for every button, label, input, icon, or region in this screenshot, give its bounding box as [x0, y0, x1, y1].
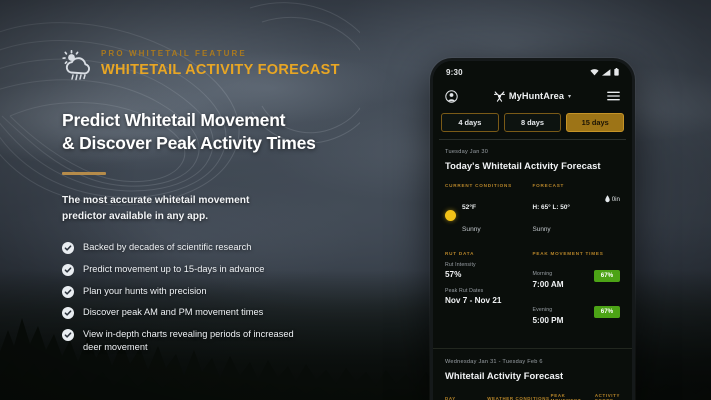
phone-mockup: 9:30: [430, 58, 635, 400]
forecast-high-low: H: 65° L: 50°: [533, 204, 570, 211]
sun-icon: [445, 210, 456, 221]
feature-bullet-list: Backed by decades of scientific research…: [62, 241, 362, 354]
hunt-area-selector[interactable]: MyHuntArea ▾: [494, 91, 571, 102]
sun-behind-rain-cloud-icon: [62, 50, 92, 82]
forecast-range-tabs: 4 days 8 days 15 days: [433, 109, 632, 139]
accent-divider: [62, 172, 106, 175]
current-conditions-col: CURRENT CONDITIONS 52°F Sunny: [445, 183, 533, 237]
bullet-label: Plan your hunts with precision: [83, 285, 207, 298]
hamburger-menu-icon[interactable]: [607, 91, 620, 101]
tab-4-days[interactable]: 4 days: [441, 113, 499, 132]
list-item: Predict movement up to 15-days in advanc…: [62, 263, 362, 276]
phone-screen: 9:30: [433, 61, 632, 400]
list-item: View in-depth charts revealing periods o…: [62, 328, 362, 354]
column-header-activity-score: ACTIVITY SCORE: [595, 393, 620, 400]
tab-8-days[interactable]: 8 days: [504, 113, 562, 132]
hero-headline: Predict Whitetail Movement & Discover Pe…: [62, 109, 362, 155]
current-temperature: 52°F: [462, 204, 476, 211]
today-forecast-card: Tuesday Jan 30 Today's Whitetail Activit…: [433, 140, 632, 344]
rut-peak-row: RUT DATA Rut Intensity 57% Peak Rut Date…: [445, 251, 620, 334]
current-conditions-label: CURRENT CONDITIONS: [445, 183, 533, 188]
chevron-down-icon: ▾: [568, 93, 571, 100]
forecast-col: FORECAST H: 65° L: 50° Sunny 0in: [533, 183, 621, 237]
forecast-section-title: Whitetail Activity Forecast: [445, 370, 620, 381]
bullet-label: Discover peak AM and PM movement times: [83, 306, 263, 319]
check-circle-icon: [62, 264, 74, 276]
peak-movement-evening: Evening 5:00 PM 67%: [533, 298, 621, 325]
wifi-icon: [590, 69, 599, 76]
list-item: Plan your hunts with precision: [62, 285, 362, 298]
user-avatar-icon[interactable]: [445, 90, 458, 103]
peak-rut-dates-stat: Peak Rut Dates Nov 7 - Nov 21: [445, 288, 533, 305]
deer-antler-icon: [494, 91, 505, 102]
bullet-label: Predict movement up to 15-days in advanc…: [83, 263, 264, 276]
conditions-row: CURRENT CONDITIONS 52°F Sunny FORECAST H…: [445, 183, 620, 237]
cellular-signal-icon: [602, 69, 611, 76]
rut-intensity-value: 57%: [445, 270, 533, 279]
morning-time: 7:00 AM: [533, 280, 564, 289]
bullet-label: Backed by decades of scientific research: [83, 241, 251, 254]
rut-data-col: RUT DATA Rut Intensity 57% Peak Rut Date…: [445, 251, 533, 334]
peak-movement-col: PEAK MOVEMENT TIMES Morning 7:00 AM 67% …: [533, 251, 621, 334]
status-badge: 67%: [594, 270, 620, 282]
peak-rut-dates-key: Peak Rut Dates: [445, 288, 533, 294]
forecast-label: FORECAST: [533, 183, 621, 188]
hero-content: PRO WHITETAIL FEATURE WHITETAIL ACTIVITY…: [62, 48, 362, 363]
peak-rut-dates-value: Nov 7 - Nov 21: [445, 296, 533, 305]
precipitation-value: 0in: [612, 196, 620, 203]
precipitation: 0in: [605, 194, 620, 203]
brand-title: WHITETAIL ACTIVITY FORECAST: [101, 63, 340, 78]
check-circle-icon: [62, 307, 74, 319]
forecast-table-header: DAY WEATHER CONDITIONS PEAK MOVEMENT ACT…: [445, 393, 620, 400]
list-item: Discover peak AM and PM movement times: [62, 306, 362, 319]
current-description: Sunny: [462, 226, 481, 233]
peak-movement-label: PEAK MOVEMENT TIMES: [533, 251, 621, 256]
evening-key: Evening: [533, 307, 553, 313]
today-date: Tuesday Jan 30: [445, 149, 620, 155]
status-bar: 9:30: [433, 61, 632, 83]
brand-lockup: PRO WHITETAIL FEATURE WHITETAIL ACTIVITY…: [62, 48, 362, 82]
headline-line-2: & Discover Peak Activity Times: [62, 132, 362, 155]
check-circle-icon: [62, 242, 74, 254]
check-circle-icon: [62, 329, 74, 341]
bullet-label: View in-depth charts revealing periods o…: [83, 328, 298, 354]
hero-subheadline: The most accurate whitetail movement pre…: [62, 193, 290, 224]
morning-key: Morning: [533, 271, 553, 277]
status-icons: [590, 68, 619, 76]
battery-icon: [614, 68, 619, 76]
forecast-range: Wednesday Jan 31 - Tuesday Feb 6: [445, 359, 620, 365]
rut-data-label: RUT DATA: [445, 251, 533, 256]
list-item: Backed by decades of scientific research: [62, 241, 362, 254]
app-bar: MyHuntArea ▾: [433, 83, 632, 109]
forecast-description: Sunny: [533, 226, 551, 233]
column-header-weather: WEATHER CONDITIONS: [487, 396, 550, 400]
rut-intensity-stat: Rut Intensity 57%: [445, 262, 533, 279]
water-droplet-icon: [605, 195, 610, 203]
column-header-peak: PEAK MOVEMENT: [551, 393, 595, 400]
weekly-forecast-section: Wednesday Jan 31 - Tuesday Feb 6 Whiteta…: [433, 348, 632, 400]
brand-eyebrow: PRO WHITETAIL FEATURE: [101, 50, 340, 58]
app-bar-title: MyHuntArea: [509, 91, 564, 101]
forecast-value: H: 65° L: 50° Sunny 0in: [533, 194, 621, 237]
status-clock: 9:30: [446, 68, 463, 77]
peak-movement-morning: Morning 7:00 AM 67%: [533, 262, 621, 289]
tab-15-days[interactable]: 15 days: [566, 113, 624, 132]
column-header-day: DAY: [445, 396, 487, 400]
today-card-title: Today's Whitetail Activity Forecast: [445, 160, 620, 171]
status-badge: 67%: [594, 306, 620, 318]
check-circle-icon: [62, 286, 74, 298]
headline-line-1: Predict Whitetail Movement: [62, 109, 362, 132]
current-conditions-value: 52°F Sunny: [445, 194, 533, 237]
evening-time: 5:00 PM: [533, 316, 564, 325]
rut-intensity-key: Rut Intensity: [445, 262, 533, 268]
